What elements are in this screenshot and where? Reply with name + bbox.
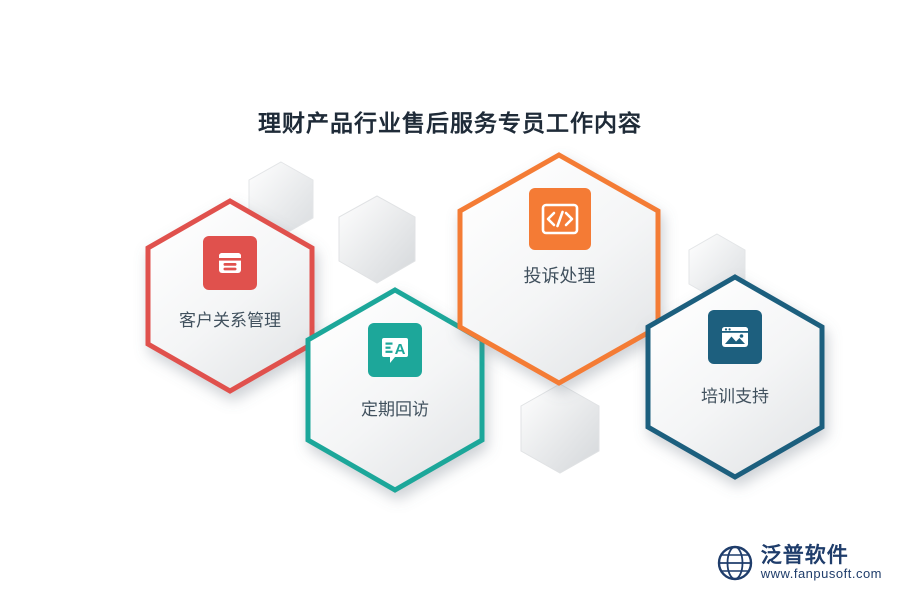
hex-node-training[interactable]: 培训支持 — [640, 272, 830, 482]
brand-logo: 泛普软件 www.fanpusoft.com — [716, 543, 882, 582]
brand-name: 泛普软件 — [761, 543, 882, 567]
decorative-hexagon-2 — [336, 194, 418, 291]
page-title: 理财产品行业售后服务专员工作内容 — [0, 104, 900, 138]
infographic-canvas: 理财产品行业售后服务专员工作内容 — [0, 0, 900, 600]
hex-node-complaint[interactable]: 投诉处理 — [452, 150, 667, 388]
hex-node-crm[interactable]: 客户关系管理 — [140, 196, 320, 396]
decorative-hexagon-3 — [518, 382, 602, 481]
globe-icon — [716, 544, 754, 582]
brand-url: www.fanpusoft.com — [761, 567, 882, 582]
